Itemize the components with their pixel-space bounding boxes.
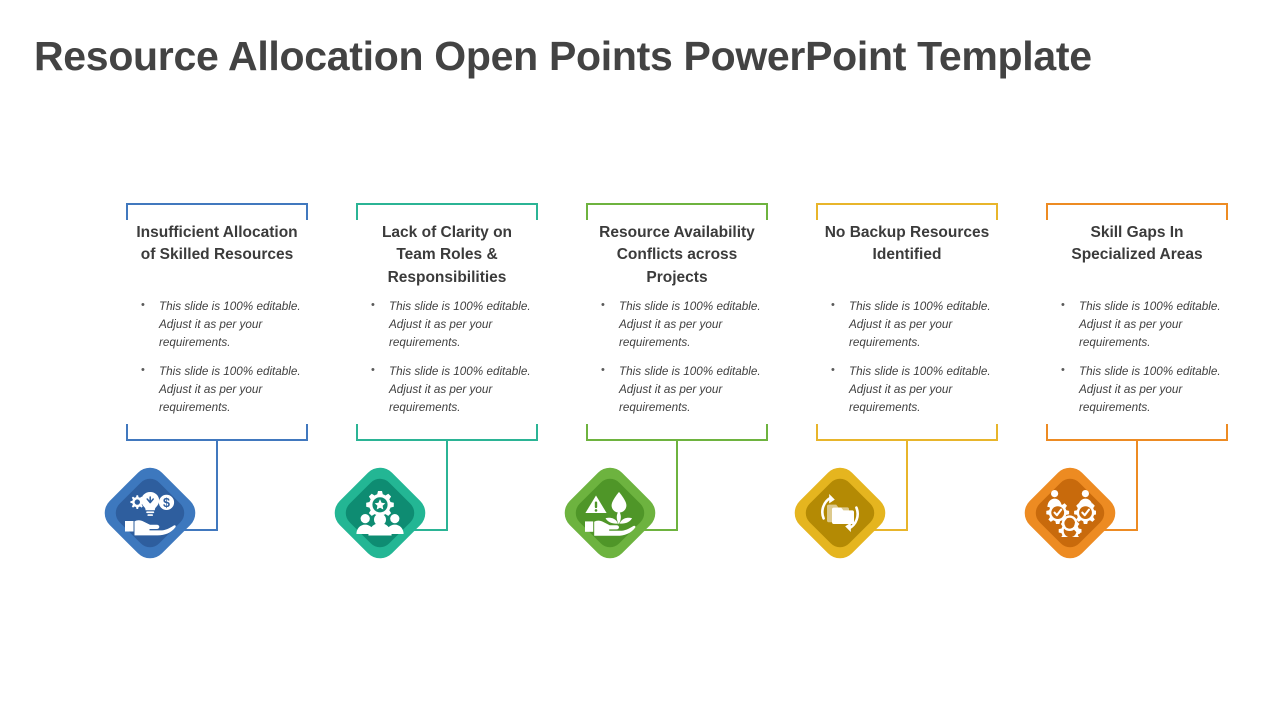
card-bullet-list-5: This slide is 100% editable. Adjust it a…	[1060, 298, 1228, 417]
bracket-top-rule-5	[1046, 203, 1228, 205]
column-2[interactable]: Lack of Clarity on Team Roles & Responsi…	[348, 0, 578, 720]
bracket-top-rule-2	[356, 203, 538, 205]
hand-holding-resources-icon: $	[102, 465, 198, 561]
card-title-3: Resource Availability Conflicts across P…	[592, 222, 762, 289]
diamond-icon-1[interactable]: $	[102, 465, 228, 591]
card-bullet-list-3: This slide is 100% editable. Adjust it a…	[600, 298, 768, 417]
card-bullet-item: This slide is 100% editable. Adjust it a…	[370, 298, 538, 351]
team-roles-gear-icon	[332, 465, 428, 561]
bracket-bottom-rule-4	[816, 439, 998, 441]
bracket-stub-top-left-1	[126, 203, 128, 220]
column-1[interactable]: Insufficient Allocation of Skilled Resou…	[118, 0, 348, 720]
column-3[interactable]: Resource Availability Conflicts across P…	[578, 0, 808, 720]
bracket-stub-top-right-1	[306, 203, 308, 220]
card-title-5: Skill Gaps In Specialized Areas	[1052, 222, 1222, 267]
bracket-stub-bottom-right-2	[536, 424, 538, 441]
bracket-bottom-rule-3	[586, 439, 768, 441]
bracket-top-rule-1	[126, 203, 308, 205]
bracket-stub-bottom-right-5	[1226, 424, 1228, 441]
card-bullet-item: This slide is 100% editable. Adjust it a…	[1060, 363, 1228, 416]
bracket-stub-bottom-left-5	[1046, 424, 1048, 441]
column-4[interactable]: No Backup Resources Identified This slid…	[808, 0, 1038, 720]
card-bullet-list-4: This slide is 100% editable. Adjust it a…	[830, 298, 998, 417]
diamond-icon-3[interactable]	[562, 465, 688, 591]
card-bullet-item: This slide is 100% editable. Adjust it a…	[140, 363, 308, 416]
bracket-stub-top-right-2	[536, 203, 538, 220]
card-bullet-list-1: This slide is 100% editable. Adjust it a…	[140, 298, 308, 417]
slide-canvas: Resource Allocation Open Points PowerPoi…	[0, 0, 1280, 720]
skill-search-people-gear-icon	[1022, 465, 1118, 561]
bracket-stub-top-left-3	[586, 203, 588, 220]
bracket-stub-bottom-left-4	[816, 424, 818, 441]
bracket-top-rule-4	[816, 203, 998, 205]
bracket-stub-top-left-4	[816, 203, 818, 220]
card-title-4: No Backup Resources Identified	[822, 222, 992, 267]
card-bullet-item: This slide is 100% editable. Adjust it a…	[830, 298, 998, 351]
bracket-stub-bottom-right-4	[996, 424, 998, 441]
bracket-stub-bottom-right-1	[306, 424, 308, 441]
card-bullet-item: This slide is 100% editable. Adjust it a…	[600, 298, 768, 351]
bracket-bottom-rule-5	[1046, 439, 1228, 441]
bracket-stub-top-right-5	[1226, 203, 1228, 220]
bracket-bottom-rule-2	[356, 439, 538, 441]
folder-backup-refresh-icon	[792, 465, 888, 561]
card-bullet-item: This slide is 100% editable. Adjust it a…	[370, 363, 538, 416]
bracket-stub-bottom-left-1	[126, 424, 128, 441]
bracket-stub-bottom-left-2	[356, 424, 358, 441]
bracket-stub-top-right-3	[766, 203, 768, 220]
card-bullet-list-2: This slide is 100% editable. Adjust it a…	[370, 298, 538, 417]
bracket-top-rule-3	[586, 203, 768, 205]
bracket-stub-top-right-4	[996, 203, 998, 220]
bracket-stub-bottom-right-3	[766, 424, 768, 441]
bracket-stub-bottom-left-3	[586, 424, 588, 441]
card-title-1: Insufficient Allocation of Skilled Resou…	[132, 222, 302, 267]
card-bullet-item: This slide is 100% editable. Adjust it a…	[600, 363, 768, 416]
card-bullet-item: This slide is 100% editable. Adjust it a…	[1060, 298, 1228, 351]
bracket-stub-top-left-2	[356, 203, 358, 220]
column-5[interactable]: Skill Gaps In Specialized Areas This sli…	[1038, 0, 1268, 720]
card-bullet-item: This slide is 100% editable. Adjust it a…	[830, 363, 998, 416]
svg-text:$: $	[163, 496, 170, 510]
card-bullet-item: This slide is 100% editable. Adjust it a…	[140, 298, 308, 351]
bracket-stub-top-left-5	[1046, 203, 1048, 220]
diamond-icon-5[interactable]	[1022, 465, 1148, 591]
card-title-2: Lack of Clarity on Team Roles & Responsi…	[362, 222, 532, 289]
bracket-bottom-rule-1	[126, 439, 308, 441]
diamond-icon-4[interactable]	[792, 465, 918, 591]
diamond-icon-2[interactable]	[332, 465, 458, 591]
hand-warning-leaf-icon	[562, 465, 658, 561]
